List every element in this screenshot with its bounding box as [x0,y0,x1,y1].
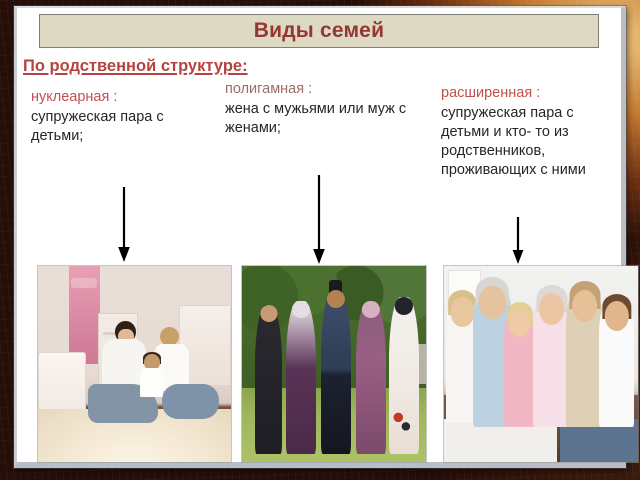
husband [321,290,350,455]
father [566,290,603,427]
definition-column-polygamous: полигамная : жена с мужьями или муж с же… [225,80,420,138]
mother-head [160,327,179,347]
definition-body-polygamous: жена с мужьями или муж с женами; [225,100,420,138]
nuclear-family-scene [38,266,231,462]
arrow-down-extended [511,217,525,265]
definition-column-nuclear: нуклеарная : супружеская пара с детьми; [31,88,217,146]
arrow-down-polygamous [312,175,326,265]
page-title: Виды семей [254,19,384,43]
grandson [599,301,634,426]
definition-term-nuclear: нуклеарная : [31,88,217,107]
wife-4 [389,297,418,454]
wife-1 [255,305,283,454]
nuclear-family-photo [37,265,232,463]
wife-3 [356,301,385,454]
definition-body-extended: супружеская пара с детьми и кто- то из р… [441,104,619,181]
granddaughter [504,309,535,427]
slide-root: Виды семей По родственной структуре: нук… [0,0,640,480]
pink-curtain [69,266,100,364]
polygamous-family-photo [241,265,427,463]
mother-legs [162,384,220,419]
wife-2 [286,301,315,454]
extended-family-photo [443,265,639,463]
definition-term-extended: расширенная : [441,84,619,103]
grandmother [533,293,570,426]
polygamous-family-scene [242,266,426,462]
slide-title-box: Виды семей [39,14,599,48]
slide-content-panel: Виды семей По родственной структуре: нук… [14,6,626,468]
arrow-down-nuclear [117,187,131,263]
definition-column-extended: расширенная : супружеская пара с детьми … [441,84,619,180]
extended-family-scene [444,266,638,462]
definition-term-polygamous: полигамная : [225,80,420,99]
definition-body-nuclear: супружеская пара с детьми; [31,108,217,146]
slide-subtitle: По родственной структуре: [23,57,248,76]
child-body [140,368,163,397]
